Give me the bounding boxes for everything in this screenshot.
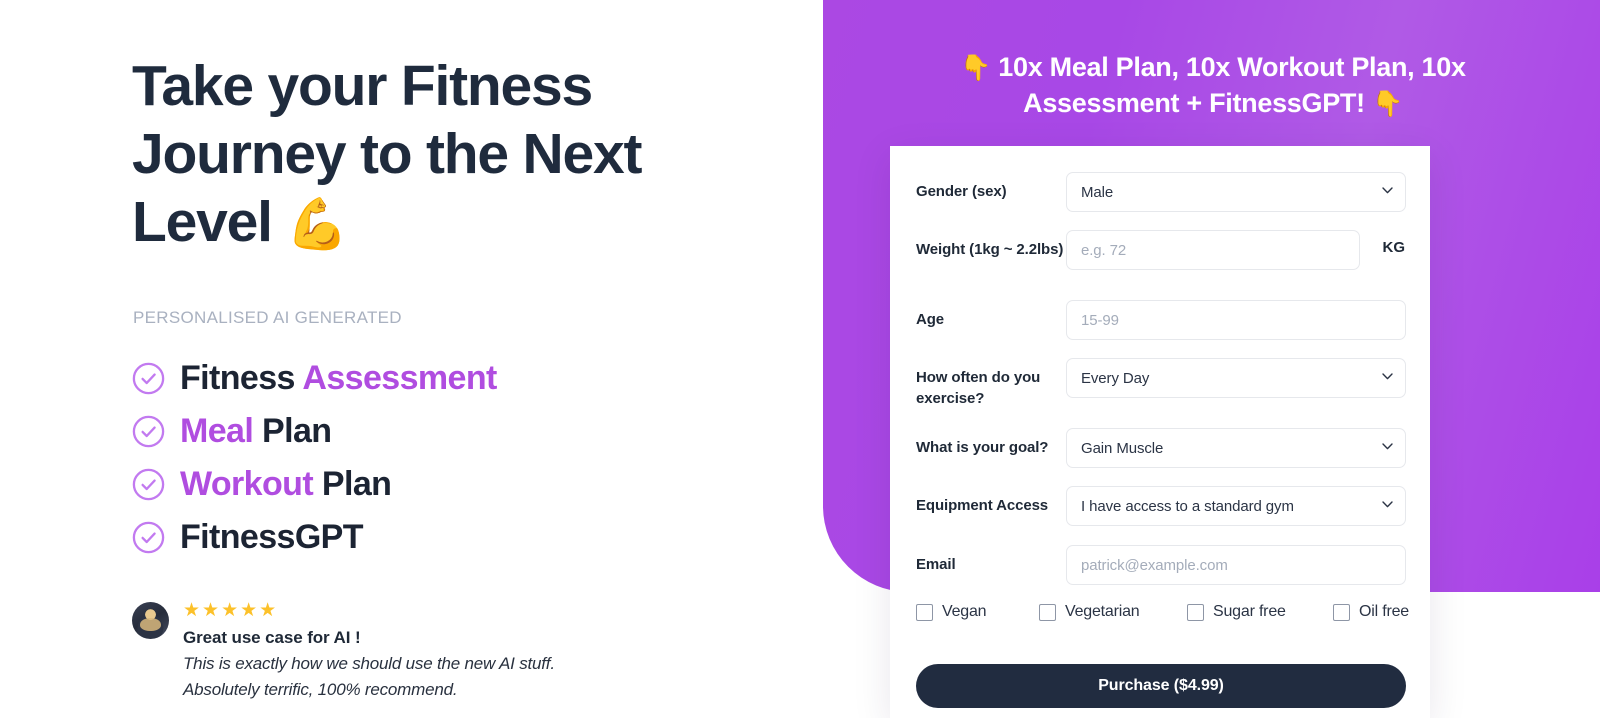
field-label-exercise-frequency: How often do you exercise?: [916, 358, 1066, 409]
testimonial-title: Great use case for AI !: [183, 628, 555, 648]
vegetarian-checkbox[interactable]: [1039, 604, 1056, 621]
avatar: [132, 602, 169, 639]
equipment-access-select[interactable]: I have access to a standard gym: [1066, 486, 1406, 526]
form-row-email: Email: [916, 545, 1406, 585]
checkbox-item-sugar-free[interactable]: Sugar free: [1187, 603, 1333, 621]
check-circle-icon: [132, 415, 165, 448]
vegan-checkbox[interactable]: [916, 604, 933, 621]
signup-form-card: Gender (sex) Male Weight (1kg ~ 2.2lbs) …: [890, 146, 1430, 718]
check-circle-icon: [132, 468, 165, 501]
testimonial-quote-line-2: Absolutely terrific, 100% recommend.: [183, 680, 457, 699]
field-label-weight: Weight (1kg ~ 2.2lbs): [916, 230, 1066, 260]
testimonial: ★★★★★ Great use case for AI ! This is ex…: [132, 598, 555, 703]
eyebrow-label: PERSONALISED AI GENERATED: [133, 308, 402, 328]
feature-label: Fitness Assessment: [180, 359, 497, 398]
checkbox-label-oil-free: Oil free: [1359, 603, 1409, 621]
feature-item-meal-plan: Meal Plan: [132, 405, 497, 458]
feature-label: Meal Plan: [180, 412, 331, 451]
feature-list: Fitness Assessment Meal Plan: [132, 352, 497, 564]
hero-title-line-2: Journey to the Next: [132, 122, 641, 186]
feature-label: FitnessGPT: [180, 518, 363, 557]
hero-title-line-3: Level: [132, 190, 272, 254]
form-row-age: Age: [916, 300, 1406, 340]
checkbox-label-vegetarian: Vegetarian: [1065, 603, 1140, 621]
feature-item-workout-plan: Workout Plan: [132, 458, 497, 511]
weight-unit-label: KG: [1383, 239, 1406, 256]
field-label-email: Email: [916, 545, 1066, 575]
oil-free-checkbox[interactable]: [1333, 604, 1350, 621]
backhand-index-pointing-down-icon: 👇: [1372, 90, 1403, 118]
age-input[interactable]: [1066, 300, 1406, 340]
form-row-equipment-access: Equipment Access I have access to a stan…: [916, 486, 1406, 526]
purchase-button[interactable]: Purchase ($4.99): [916, 664, 1406, 708]
weight-input[interactable]: [1066, 230, 1360, 270]
field-label-age: Age: [916, 300, 1066, 330]
testimonial-quote-line-1: This is exactly how we should use the ne…: [183, 654, 555, 673]
form-row-weight: Weight (1kg ~ 2.2lbs) KG: [916, 230, 1360, 270]
checkbox-item-oil-free[interactable]: Oil free: [1333, 603, 1409, 621]
backhand-index-pointing-down-icon: 👇: [960, 54, 991, 82]
form-row-exercise-frequency: How often do you exercise? Every Day: [916, 358, 1406, 409]
checkbox-item-vegan[interactable]: Vegan: [916, 603, 1039, 621]
promo-headline: 👇 10x Meal Plan, 10x Workout Plan, 10x A…: [893, 50, 1533, 122]
feature-item-fitnessgpt: FitnessGPT: [132, 511, 497, 564]
field-label-goal: What is your goal?: [916, 428, 1066, 458]
sugar-free-checkbox[interactable]: [1187, 604, 1204, 621]
form-row-gender: Gender (sex) Male: [916, 172, 1406, 212]
landing-page: Take your Fitness Journey to the Next Le…: [0, 0, 1600, 718]
check-circle-icon: [132, 521, 165, 554]
checkbox-label-sugar-free: Sugar free: [1213, 603, 1286, 621]
check-circle-icon: [132, 362, 165, 395]
page-title: Take your Fitness Journey to the Next Le…: [132, 52, 692, 256]
flexed-biceps-emoji: 💪: [286, 196, 347, 252]
testimonial-body: ★★★★★ Great use case for AI ! This is ex…: [183, 598, 555, 703]
gender-select[interactable]: Male: [1066, 172, 1406, 212]
testimonial-quote: This is exactly how we should use the ne…: [183, 651, 555, 703]
feature-label: Workout Plan: [180, 465, 391, 504]
exercise-frequency-select[interactable]: Every Day: [1066, 358, 1406, 398]
feature-item-fitness-assessment: Fitness Assessment: [132, 352, 497, 405]
hero-left-column: Take your Fitness Journey to the Next Le…: [132, 0, 792, 718]
hero-title-line-1: Take your Fitness: [132, 54, 592, 118]
email-field[interactable]: [1066, 545, 1406, 585]
checkbox-label-vegan: Vegan: [942, 603, 986, 621]
star-rating: ★★★★★: [183, 600, 555, 622]
form-row-goal: What is your goal? Gain Muscle: [916, 428, 1406, 468]
diet-preferences-group: Vegan Vegetarian Sugar free Oil free: [916, 603, 1416, 621]
field-label-equipment-access: Equipment Access: [916, 486, 1066, 516]
checkbox-item-vegetarian[interactable]: Vegetarian: [1039, 603, 1187, 621]
field-label-gender: Gender (sex): [916, 172, 1066, 202]
goal-select[interactable]: Gain Muscle: [1066, 428, 1406, 468]
